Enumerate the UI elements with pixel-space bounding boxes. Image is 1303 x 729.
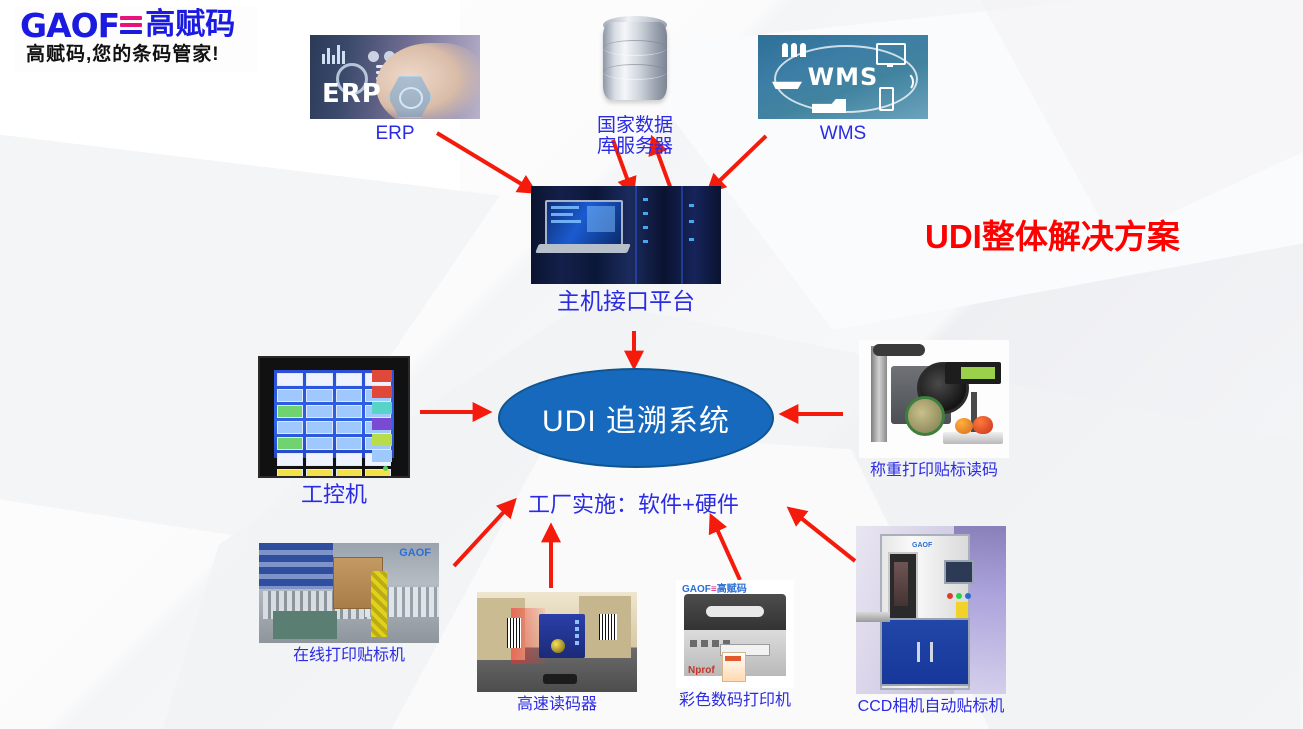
node-host-platform[interactable]: 主机接口平台 [531, 186, 721, 314]
node-erp[interactable]: ERP ERP [305, 35, 485, 145]
logo-tagline: 高赋码,您的条码管家! [14, 44, 258, 66]
udi-system-node[interactable]: UDI 追溯系统 [498, 368, 774, 468]
wms-phone-icon [879, 87, 894, 111]
udi-system-label: UDI 追溯系统 [542, 396, 730, 440]
ccd-labeler-image: GAOF [856, 526, 1006, 694]
ipc-side-buttons [372, 370, 392, 466]
wms-image-text: WMS [808, 63, 879, 91]
logo-wordmark: GAOF 高赋码 [14, 6, 258, 44]
database-cylinder-icon [589, 16, 681, 112]
page-title: UDI整体解决方案 [925, 210, 1180, 258]
erp-hand [376, 43, 480, 119]
node-color-printer[interactable]: GAOF≡高赋码 Nprof 彩色数码打印机 [676, 580, 794, 710]
host-platform-image [531, 186, 721, 284]
wms-monitor-icon [876, 43, 906, 65]
factory-implementation-label: 工厂实施：软件+硬件 [528, 487, 739, 519]
ipc-image [258, 356, 410, 478]
color-printer-image: GAOF≡高赋码 Nprof [676, 580, 794, 688]
arrow-colorprinter-to-udi [712, 518, 740, 580]
node-label-online-labeler: 在线打印贴标机 [258, 647, 440, 665]
company-logo: GAOF 高赋码 高赋码,您的条码管家! [14, 6, 258, 72]
node-label-wms: WMS [753, 123, 933, 145]
background-polygon-3 [620, 0, 1303, 330]
logo-latin-text: GAOF [20, 9, 119, 42]
erp-image-text: ERP [322, 79, 382, 109]
erp-image: ERP [310, 35, 480, 119]
node-label-erp: ERP [305, 123, 485, 145]
node-label-color-printer: 彩色数码打印机 [676, 692, 794, 710]
node-weigh-labeler[interactable]: 称重打印贴标读码 [856, 340, 1012, 480]
background-polygon-6 [980, 0, 1303, 240]
background-polygon-2 [0, 120, 500, 540]
node-label-host-platform: 主机接口平台 [531, 288, 721, 314]
erp-chart-icon [322, 45, 347, 64]
node-label-reader: 高速读码器 [477, 696, 637, 714]
node-online-labeler[interactable]: GAOF 在线打印贴标机 [258, 543, 440, 665]
weigh-labeler-image [859, 340, 1009, 458]
node-label-database: 国家数据库服务器 [570, 116, 700, 158]
slide-canvas: GAOF 高赋码 高赋码,您的条码管家! [0, 0, 1303, 729]
wms-image: WMS [758, 35, 928, 119]
node-label-ccd-labeler: CCD相机自动贴标机 [838, 698, 1024, 716]
node-reader[interactable]: 高速读码器 [477, 592, 637, 714]
online-labeler-image: GAOF [259, 543, 439, 643]
laptop-icon [541, 200, 625, 256]
arrow-onlinelabeler-to-udi [454, 502, 513, 566]
gaof-watermark-printer: GAOF≡高赋码 [682, 580, 747, 595]
node-label-ipc: 工控机 [258, 482, 410, 507]
node-database[interactable]: 国家数据库服务器 [570, 16, 700, 158]
logo-chinese-text: 高赋码 [145, 10, 235, 40]
node-wms[interactable]: WMS WMS [753, 35, 933, 145]
node-ccd-labeler[interactable]: GAOF CCD相机自动贴标机 [838, 526, 1024, 716]
gaof-watermark: GAOF [399, 547, 431, 559]
wms-people-icon [782, 43, 809, 62]
node-ipc[interactable]: 工控机 [258, 356, 410, 507]
logo-bars-icon [120, 16, 142, 34]
node-label-weigh-labeler: 称重打印贴标读码 [856, 462, 1012, 480]
reader-image [477, 592, 637, 692]
power-led-icon [383, 466, 388, 471]
